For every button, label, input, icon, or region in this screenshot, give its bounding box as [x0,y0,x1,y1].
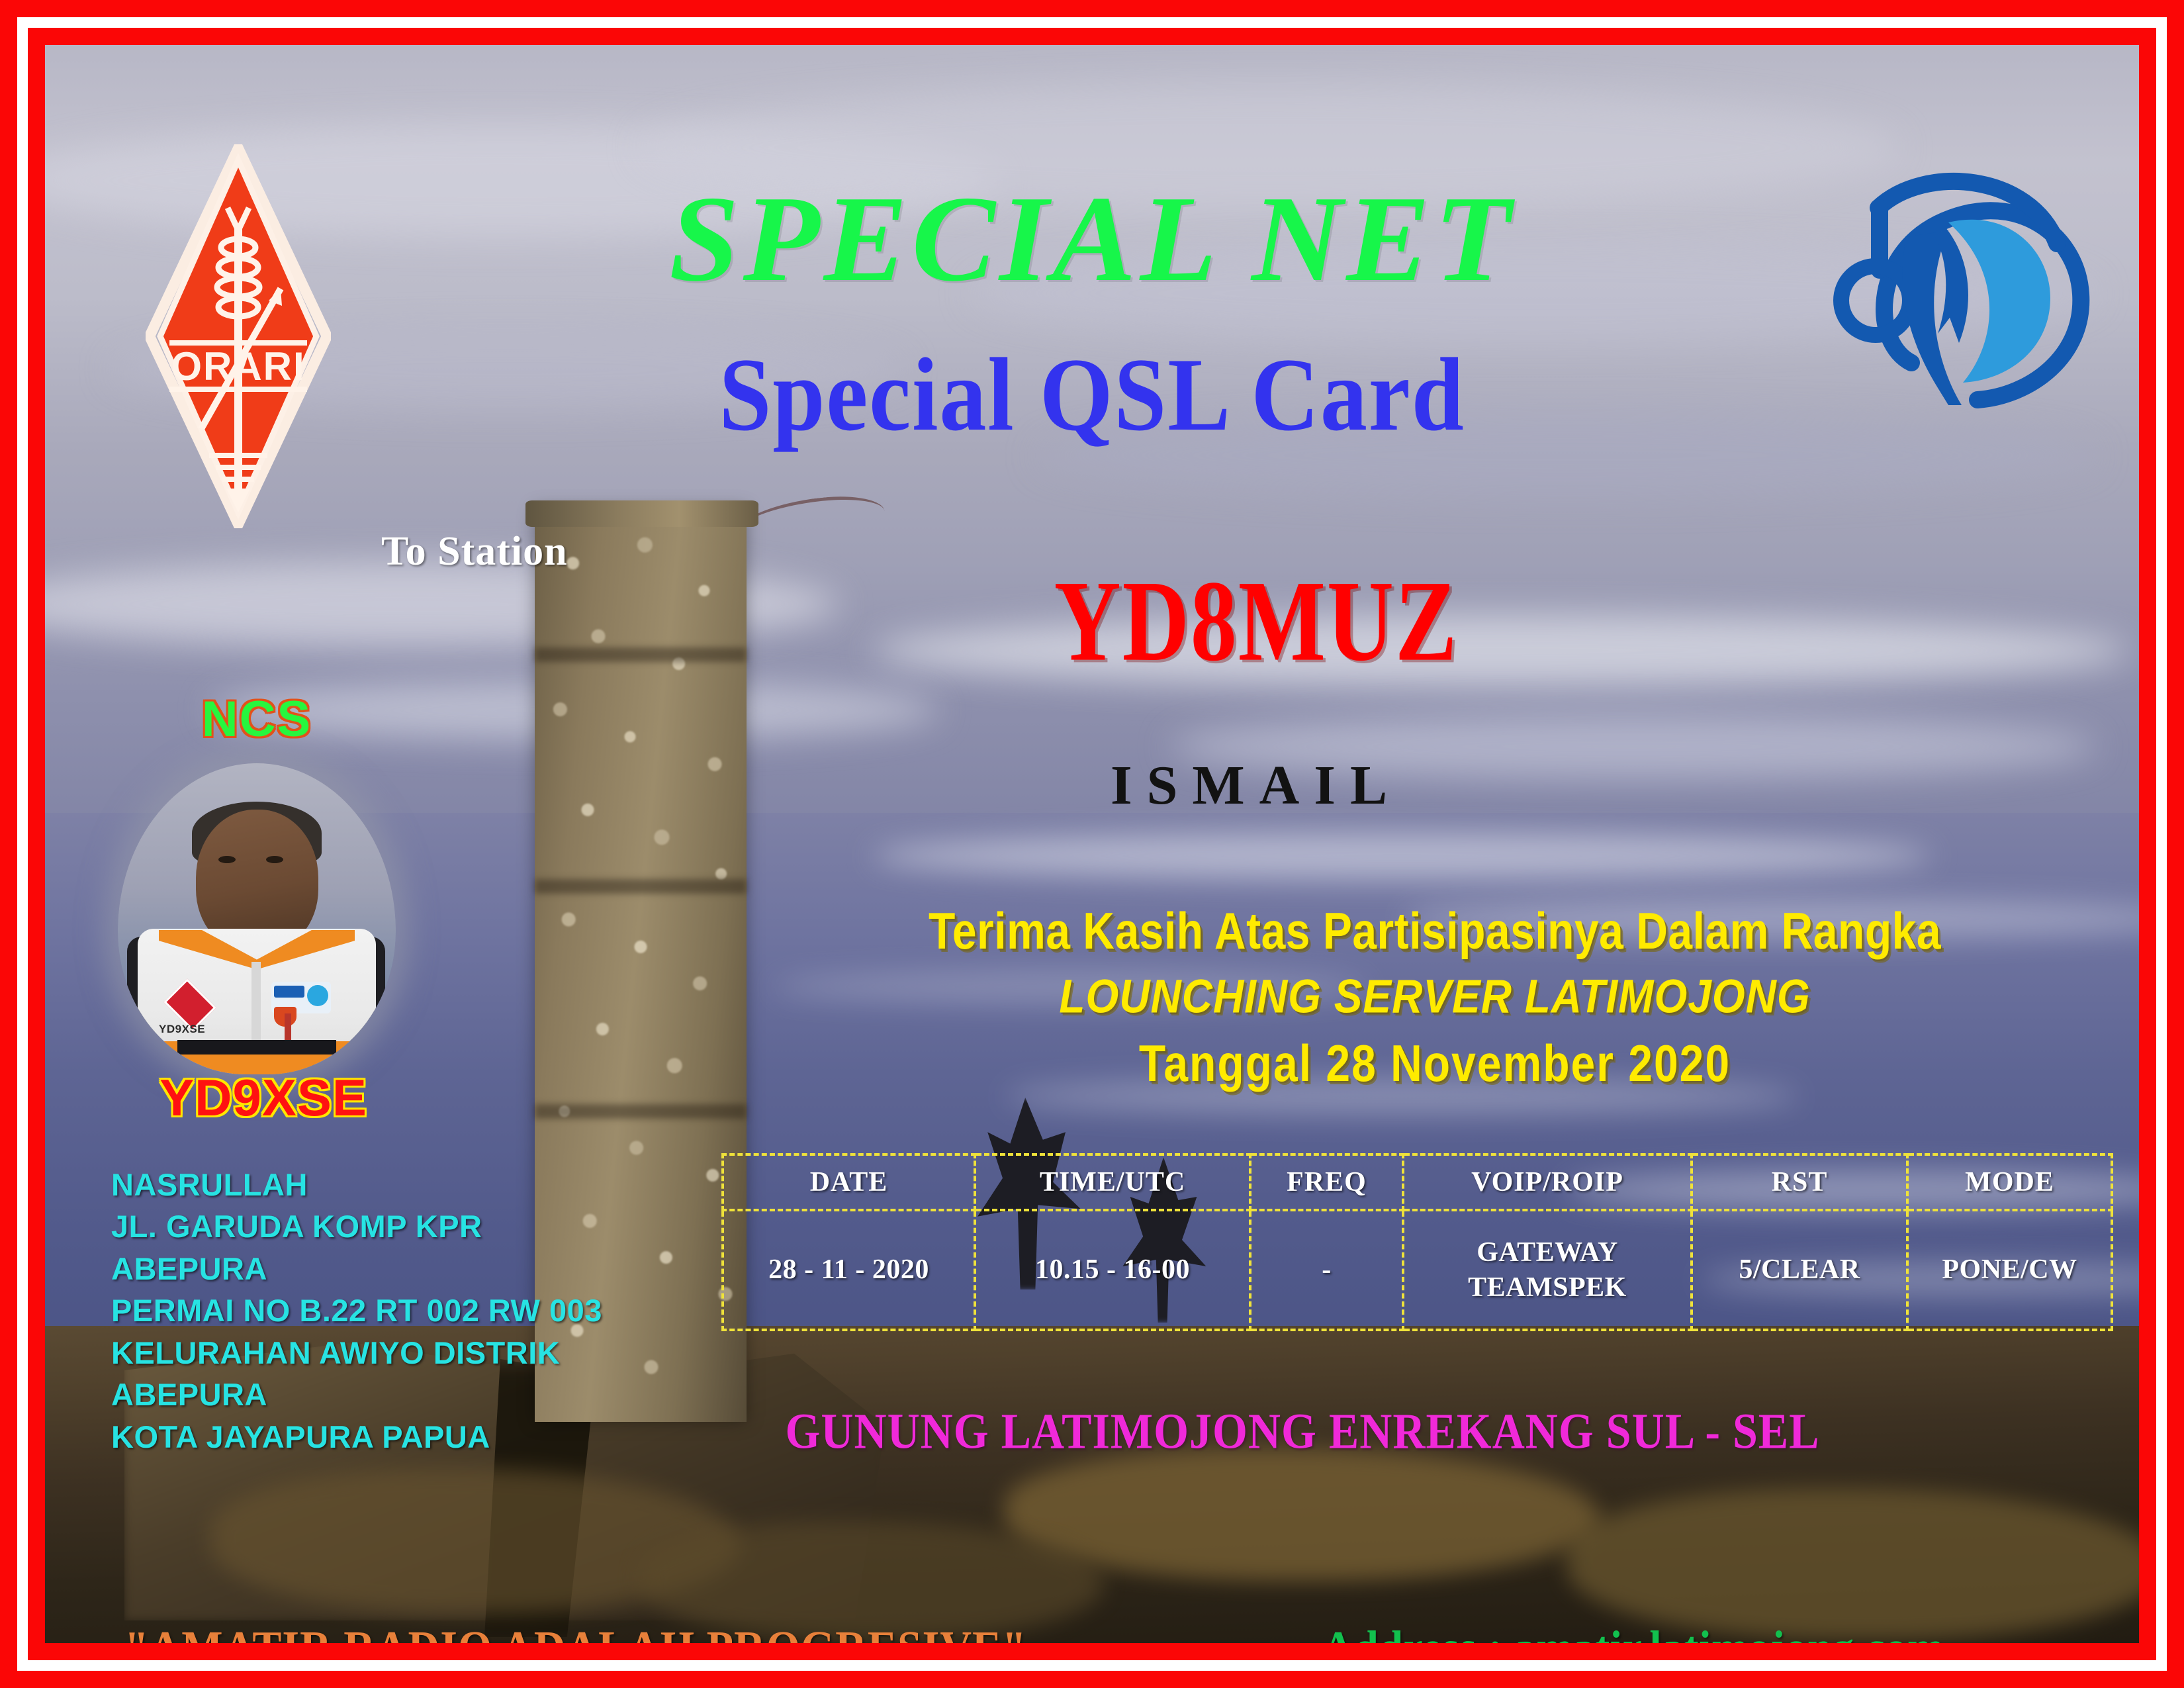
pillar-band [535,879,747,894]
cell-voip-line2: TEAMSPEK [1405,1270,1690,1305]
cell-rst: 5/CLEAR [1692,1210,1907,1330]
address-block: NASRULLAH JL. GARUDA KOMP KPR ABEPURA PE… [111,1164,680,1458]
qso-table: DATE TIME/UTC FREQ VOIP/ROIP RST MODE 28… [721,1153,2113,1331]
cell-time: 10.15 - 16-00 [975,1210,1250,1330]
pillar-cap [525,500,758,527]
cell-mode: PONE/CW [1907,1210,2112,1330]
address-line: PERMAI NO B.22 RT 002 RW 003 [111,1289,680,1331]
table-row: 28 - 11 - 2020 10.15 - 16-00 - GATEWAY T… [723,1210,2112,1330]
operator-name: ISMAIL [859,753,1653,818]
event-date-line: Tanggal 28 November 2020 [773,1033,2097,1093]
photo-eye [218,856,236,863]
page-title: SPECIAL NET [45,177,2139,301]
photo-eye [266,856,283,863]
table-header-row: DATE TIME/UTC FREQ VOIP/ROIP RST MODE [723,1154,2112,1210]
header-mode: MODE [1907,1154,2112,1210]
to-station-label: To Station [381,528,568,575]
header-voip: VOIP/ROIP [1403,1154,1692,1210]
header-time: TIME/UTC [975,1154,1250,1210]
photo-belt-buckle [177,1040,336,1055]
thanks-line: Terima Kasih Atas Partisipasinya Dalam R… [773,901,2097,961]
header-date: DATE [723,1154,975,1210]
ncs-callsign: YD9XSE [118,1068,409,1128]
background-photo: ORARI [45,45,2139,1643]
address-line: JL. GARUDA KOMP KPR [111,1205,680,1247]
footer-address: Address : amatir.latimojong.com [1322,1621,1944,1643]
mist-line [872,833,1931,879]
qsl-card: ORARI [0,0,2184,1688]
cell-voip-line1: GATEWAY [1405,1235,1690,1270]
pillar-band [535,1104,747,1119]
cell-date: 28 - 11 - 2020 [723,1210,975,1330]
cell-freq: - [1250,1210,1403,1330]
event-line: LOUNCHING SERVER LATIMOJONG [773,969,2097,1024]
cell-voip: GATEWAY TEAMSPEK [1403,1210,1692,1330]
photo-shirt-patch-text: YD9XSE [159,1023,205,1036]
ncs-label: NCS [131,690,383,748]
location-label: GUNUNG LATIMOJONG ENREKANG SUL - SEL [674,1402,1931,1460]
page-subtitle: Special QSL Card [150,343,2034,447]
address-line: ABEPURA [111,1374,680,1415]
address-line: NASRULLAH [111,1164,680,1205]
address-line: ABEPURA [111,1248,680,1289]
address-line: KELURAHAN AWIYO DISTRIK [111,1332,680,1374]
header-freq: FREQ [1250,1154,1403,1210]
address-line: KOTA JAYAPURA PAPUA [111,1416,680,1458]
header-rst: RST [1692,1154,1907,1210]
station-callsign: YD8MUZ [859,555,1653,688]
grass-patch [1567,1488,2139,1640]
footer-motto: "AMATIR RADIO ADALAH PROGRESIVE" [124,1621,1027,1643]
pillar-band [535,647,747,662]
